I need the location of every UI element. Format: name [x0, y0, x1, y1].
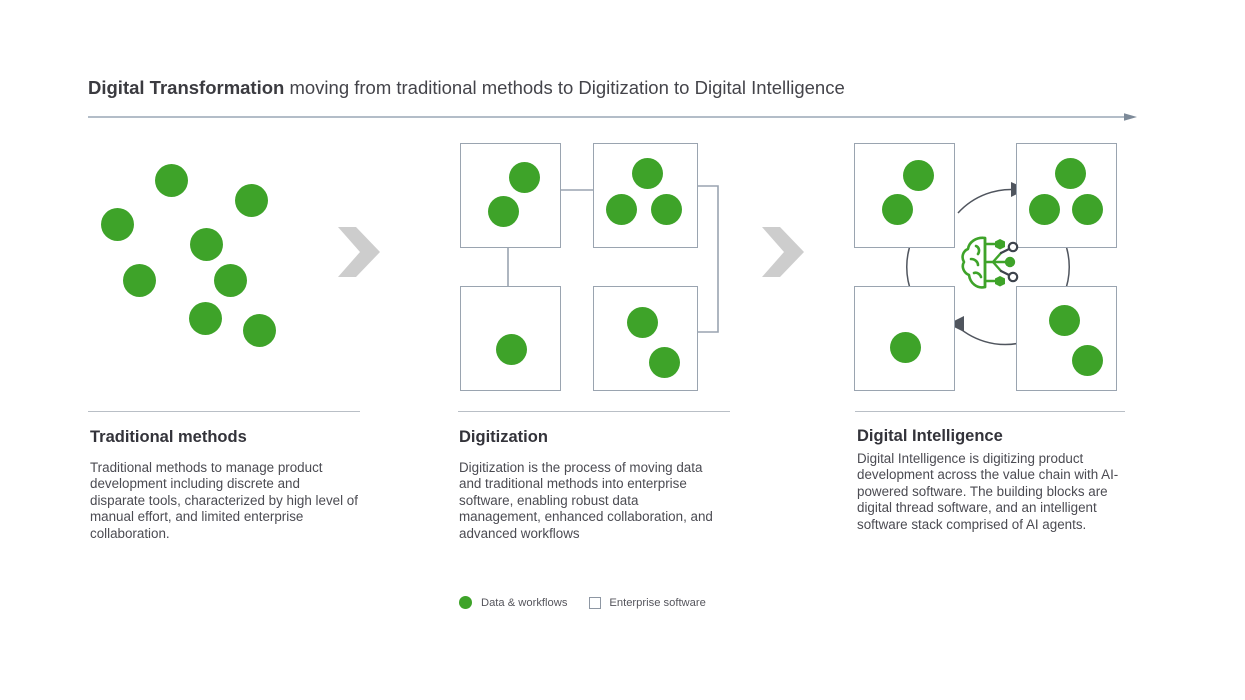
legend-label: Data & workflows [481, 597, 567, 609]
graphic-scattered-dots [85, 150, 315, 380]
column-divider [855, 411, 1125, 412]
data-dot [190, 228, 223, 261]
column-body-traditional: Traditional methods to manage product de… [90, 460, 358, 542]
data-dot [1072, 194, 1103, 225]
data-dot [632, 158, 663, 189]
column-heading-digital-intelligence: Digital Intelligence [857, 427, 1003, 446]
data-dot [123, 264, 156, 297]
enterprise-software-box [593, 286, 698, 391]
header: Digital Transformation moving from tradi… [88, 76, 1138, 100]
column-heading-traditional: Traditional methods [90, 428, 247, 447]
data-dot [627, 307, 658, 338]
enterprise-software-box [1016, 286, 1117, 391]
data-dot [1049, 305, 1080, 336]
page-title: Digital Transformation moving from tradi… [88, 76, 1138, 100]
column-divider [458, 411, 730, 412]
data-dot [235, 184, 268, 217]
enterprise-software-box [460, 286, 561, 391]
enterprise-software-box [854, 143, 955, 248]
legend-item-data-workflows: Data & workflows [459, 596, 567, 609]
column-divider [88, 411, 360, 412]
data-dot [101, 208, 134, 241]
data-dot [651, 194, 682, 225]
enterprise-software-box [460, 143, 561, 248]
graphic-connected-boxes [455, 138, 725, 398]
legend-item-enterprise-software: Enterprise software [589, 597, 705, 609]
column-body-digitization: Digitization is the process of moving da… [459, 460, 721, 542]
ai-brain-icon [955, 228, 1025, 300]
enterprise-software-box [1016, 143, 1117, 248]
data-dot [606, 194, 637, 225]
slide-canvas: Digital Transformation moving from tradi… [0, 0, 1245, 700]
data-dot [214, 264, 247, 297]
outlined-square-icon [589, 597, 601, 609]
data-dot [1029, 194, 1060, 225]
data-dot [189, 302, 222, 335]
enterprise-software-box [593, 143, 698, 248]
column-body-digital-intelligence: Digital Intelligence is digitizing produ… [857, 451, 1119, 533]
chevron-right-icon [760, 225, 806, 279]
data-dot [1072, 345, 1103, 376]
data-dot [243, 314, 276, 347]
data-dot [903, 160, 934, 191]
data-dot [496, 334, 527, 365]
data-dot [509, 162, 540, 193]
data-dot [890, 332, 921, 363]
column-heading-digitization: Digitization [459, 428, 548, 447]
green-circle-icon [459, 596, 472, 609]
legend: Data & workflows Enterprise software [459, 596, 728, 609]
data-dot [882, 194, 913, 225]
data-dot [649, 347, 680, 378]
chevron-right-icon [336, 225, 382, 279]
page-title-strong: Digital Transformation [88, 77, 284, 98]
legend-label: Enterprise software [609, 597, 705, 609]
data-dot [155, 164, 188, 197]
page-title-rest: moving from traditional methods to Digit… [284, 77, 844, 98]
data-dot [488, 196, 519, 227]
right-arrow-icon [88, 112, 1138, 122]
enterprise-software-box [854, 286, 955, 391]
data-dot [1055, 158, 1086, 189]
